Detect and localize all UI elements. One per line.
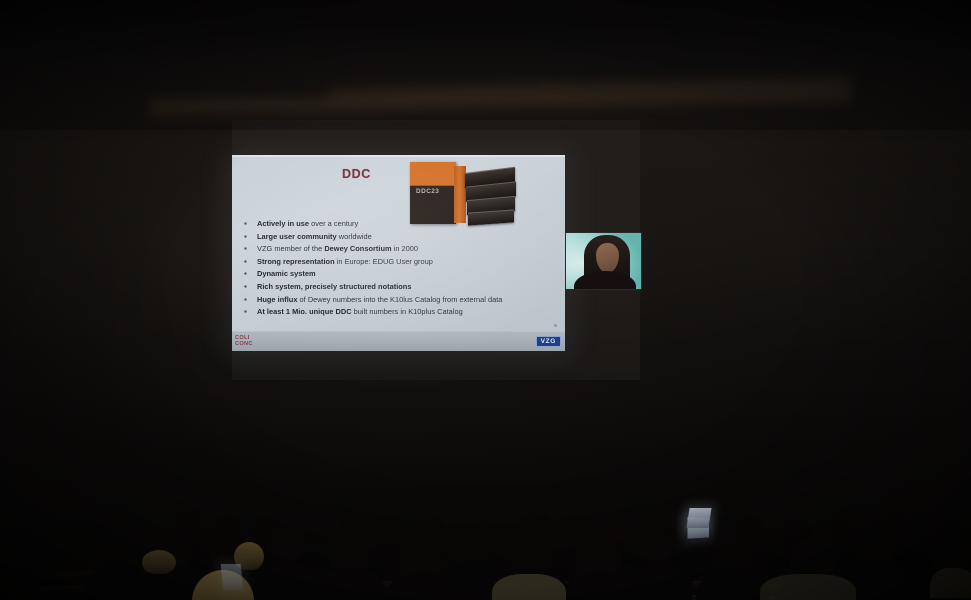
audience-light-jacket	[492, 574, 566, 600]
slide-bullet-2: ▪Large user community worldwide	[240, 231, 560, 244]
bullet-marker-icon: ▪	[244, 243, 257, 256]
audience-light-jacket	[760, 574, 856, 600]
slide-bullet-6: ▪Rich system, precisely structured notat…	[240, 281, 560, 294]
projected-slide: DDC DDC23 ▪Actively in use over a centur…	[232, 155, 565, 351]
slide-bullet-5: ▪Dynamic system	[240, 268, 560, 281]
audience-light-jacket	[930, 568, 971, 598]
slide-footer-bar: COLI CONC VZG	[232, 331, 565, 351]
audience-head	[268, 528, 302, 562]
audience-head	[560, 515, 586, 540]
audience-head	[640, 528, 674, 562]
bullet-text: Huge influx of Dewey numbers into the K1…	[257, 294, 502, 307]
audience-head	[830, 521, 856, 546]
audience-hair-highlight	[142, 550, 176, 574]
slide-title: DDC	[342, 167, 371, 181]
audience-head	[175, 512, 201, 537]
audience-head	[300, 521, 326, 546]
vzg-logo: VZG	[536, 336, 561, 347]
audience-head	[862, 528, 896, 562]
bullet-marker-icon: ▪	[244, 218, 257, 231]
bullet-marker-icon: ▪	[244, 306, 257, 319]
coli-conc-logo-line2: CONC	[235, 341, 253, 347]
slide-corner-dot	[554, 324, 557, 327]
speaker-video-feed	[565, 232, 642, 290]
bullet-marker-icon: ▪	[244, 268, 257, 281]
book-volume-stack	[465, 170, 515, 223]
bullet-text: Strong representation in Europe: EDUG Us…	[257, 256, 433, 269]
bullet-marker-icon: ▪	[244, 256, 257, 269]
audience-head	[100, 528, 134, 562]
slide-bullet-8: ▪At least 1 Mio. unique DDC built number…	[240, 306, 560, 319]
bullet-marker-icon: ▪	[244, 294, 257, 307]
audience-laptop-screen	[686, 508, 711, 528]
coli-conc-logo: COLI CONC	[235, 335, 253, 347]
slide-bullet-7: ▪Huge influx of Dewey numbers into the K…	[240, 294, 560, 307]
bullet-marker-icon: ▪	[244, 231, 257, 244]
book-label: DDC23	[416, 188, 439, 195]
slide-bullet-3: ▪VZG member of the Dewey Consortium in 2…	[240, 243, 560, 256]
slide-bullet-4: ▪Strong representation in Europe: EDUG U…	[240, 256, 560, 269]
bullet-marker-icon: ▪	[244, 281, 257, 294]
book-front-cover: DDC23	[410, 162, 456, 224]
bullet-text: Rich system, precisely structured notati…	[257, 281, 411, 294]
bullet-text: Large user community worldwide	[257, 231, 372, 244]
auditorium-scene: DDC DDC23 ▪Actively in use over a centur…	[0, 0, 971, 600]
bullet-text: Actively in use over a century	[257, 218, 358, 231]
audience-head	[372, 515, 406, 547]
audience-paper-sheet	[221, 564, 244, 590]
audience-head	[455, 528, 489, 562]
bullet-text: VZG member of the Dewey Consortium in 20…	[257, 243, 418, 256]
slide-bullet-1: ▪Actively in use over a century	[240, 218, 560, 231]
slide-bullet-list: ▪Actively in use over a century▪Large us…	[240, 218, 560, 319]
bullet-text: Dynamic system	[257, 268, 316, 281]
audience-area	[0, 470, 971, 600]
slide-top-edge	[232, 155, 565, 157]
bullet-text: At least 1 Mio. unique DDC built numbers…	[257, 306, 463, 319]
ddc-books-image: DDC23	[410, 162, 515, 224]
